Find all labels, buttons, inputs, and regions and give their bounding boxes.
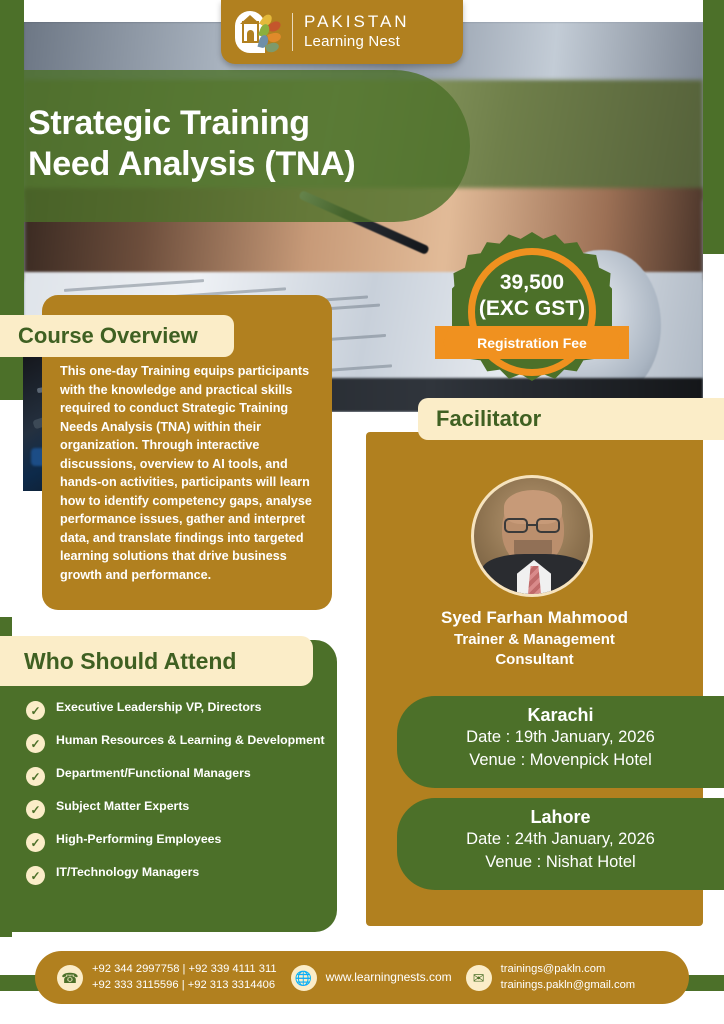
footer-email-text: trainings@pakln.com trainings.pakln@gmai… — [501, 962, 635, 994]
list-item-label: High-Performing Employees — [56, 832, 221, 848]
registration-fee-badge: 39,500 (EXC GST) Registration Fee — [452, 232, 612, 392]
badge-amount-value: 39,500 — [452, 270, 612, 296]
check-circle-icon: ✓ — [26, 866, 45, 885]
list-item: ✓ High-Performing Employees — [26, 832, 326, 852]
footer-website-group[interactable]: 🌐 www.learningnests.com — [291, 965, 452, 991]
phone-line-2: +92 333 3115596 | +92 313 3314406 — [92, 978, 277, 994]
venue-date: Date : 24th January, 2026 — [397, 828, 724, 851]
list-item-label: Department/Functional Managers — [56, 766, 251, 782]
badge-amount-qualifier: (EXC GST) — [452, 296, 612, 322]
badge-ribbon: Registration Fee — [435, 326, 629, 359]
badge-ribbon-label: Registration Fee — [477, 335, 587, 351]
course-overview-body: This one-day Training equips participant… — [60, 362, 316, 584]
phone-icon: ☎ — [57, 965, 83, 991]
poster-canvas: Strategic TrainingNeed Analysis (TNA) PA… — [0, 0, 724, 1024]
who-should-attend-heading: Who Should Attend — [24, 648, 236, 675]
course-overview-banner: Course Overview — [0, 315, 234, 357]
footer-website: www.learningnests.com — [326, 969, 452, 986]
badge-amount: 39,500 (EXC GST) — [452, 270, 612, 323]
brand-line-2: Learning Nest — [304, 34, 410, 51]
who-should-attend-list: ✓ Executive Leadership VP, Directors ✓ H… — [26, 700, 326, 898]
list-item-label: Human Resources & Learning & Development — [56, 733, 325, 749]
facilitator-avatar — [471, 475, 593, 597]
venue-city: Karachi — [397, 696, 724, 726]
list-item: ✓ Department/Functional Managers — [26, 766, 326, 786]
list-item-label: IT/Technology Managers — [56, 865, 199, 881]
brand-logo[interactable]: PAKISTAN Learning Nest — [221, 0, 463, 64]
venue-card-karachi: Karachi Date : 19th January, 2026 Venue … — [397, 696, 724, 788]
list-item: ✓ Human Resources & Learning & Developme… — [26, 733, 326, 753]
footer-phone-group[interactable]: ☎ +92 344 2997758 | +92 339 4111 311 +92… — [57, 962, 277, 994]
page-title: Strategic TrainingNeed Analysis (TNA) — [28, 103, 468, 186]
check-circle-icon: ✓ — [26, 767, 45, 786]
list-item: ✓ Executive Leadership VP, Directors — [26, 700, 326, 720]
email-line-1: trainings@pakln.com — [501, 962, 635, 978]
house-nest-logo-icon — [235, 10, 281, 54]
check-circle-icon: ✓ — [26, 800, 45, 819]
globe-icon: 🌐 — [291, 965, 317, 991]
facilitator-role: Trainer & ManagementConsultant — [366, 630, 703, 671]
list-item-label: Executive Leadership VP, Directors — [56, 700, 262, 716]
venue-date: Date : 19th January, 2026 — [397, 726, 724, 749]
frame-strip-right-top — [703, 0, 724, 254]
check-circle-icon: ✓ — [26, 734, 45, 753]
logo-divider — [292, 13, 293, 51]
brand-line-1: PAKISTAN — [304, 13, 410, 32]
list-item: ✓ IT/Technology Managers — [26, 865, 326, 885]
check-circle-icon: ✓ — [26, 833, 45, 852]
check-circle-icon: ✓ — [26, 701, 45, 720]
facilitator-banner: Facilitator — [418, 398, 724, 440]
contact-footer: ☎ +92 344 2997758 | +92 339 4111 311 +92… — [35, 951, 689, 1004]
brand-name: PAKISTAN Learning Nest — [304, 13, 410, 50]
venue-city: Lahore — [397, 798, 724, 828]
venue-place: Venue : Movenpick Hotel — [397, 749, 724, 772]
phone-line-1: +92 344 2997758 | +92 339 4111 311 — [92, 962, 277, 978]
course-overview-heading: Course Overview — [18, 323, 198, 349]
envelope-icon: ✉ — [466, 965, 492, 991]
footer-phone-text: +92 344 2997758 | +92 339 4111 311 +92 3… — [92, 962, 277, 994]
venue-place: Venue : Nishat Hotel — [397, 851, 724, 874]
venue-card-lahore: Lahore Date : 24th January, 2026 Venue :… — [397, 798, 724, 890]
facilitator-name: Syed Farhan Mahmood — [366, 608, 703, 628]
facilitator-heading: Facilitator — [436, 406, 541, 432]
email-line-2: trainings.pakln@gmail.com — [501, 978, 635, 994]
who-should-attend-banner: Who Should Attend — [0, 636, 313, 686]
list-item-label: Subject Matter Experts — [56, 799, 189, 815]
footer-email-group[interactable]: ✉ trainings@pakln.com trainings.pakln@gm… — [466, 962, 635, 994]
list-item: ✓ Subject Matter Experts — [26, 799, 326, 819]
